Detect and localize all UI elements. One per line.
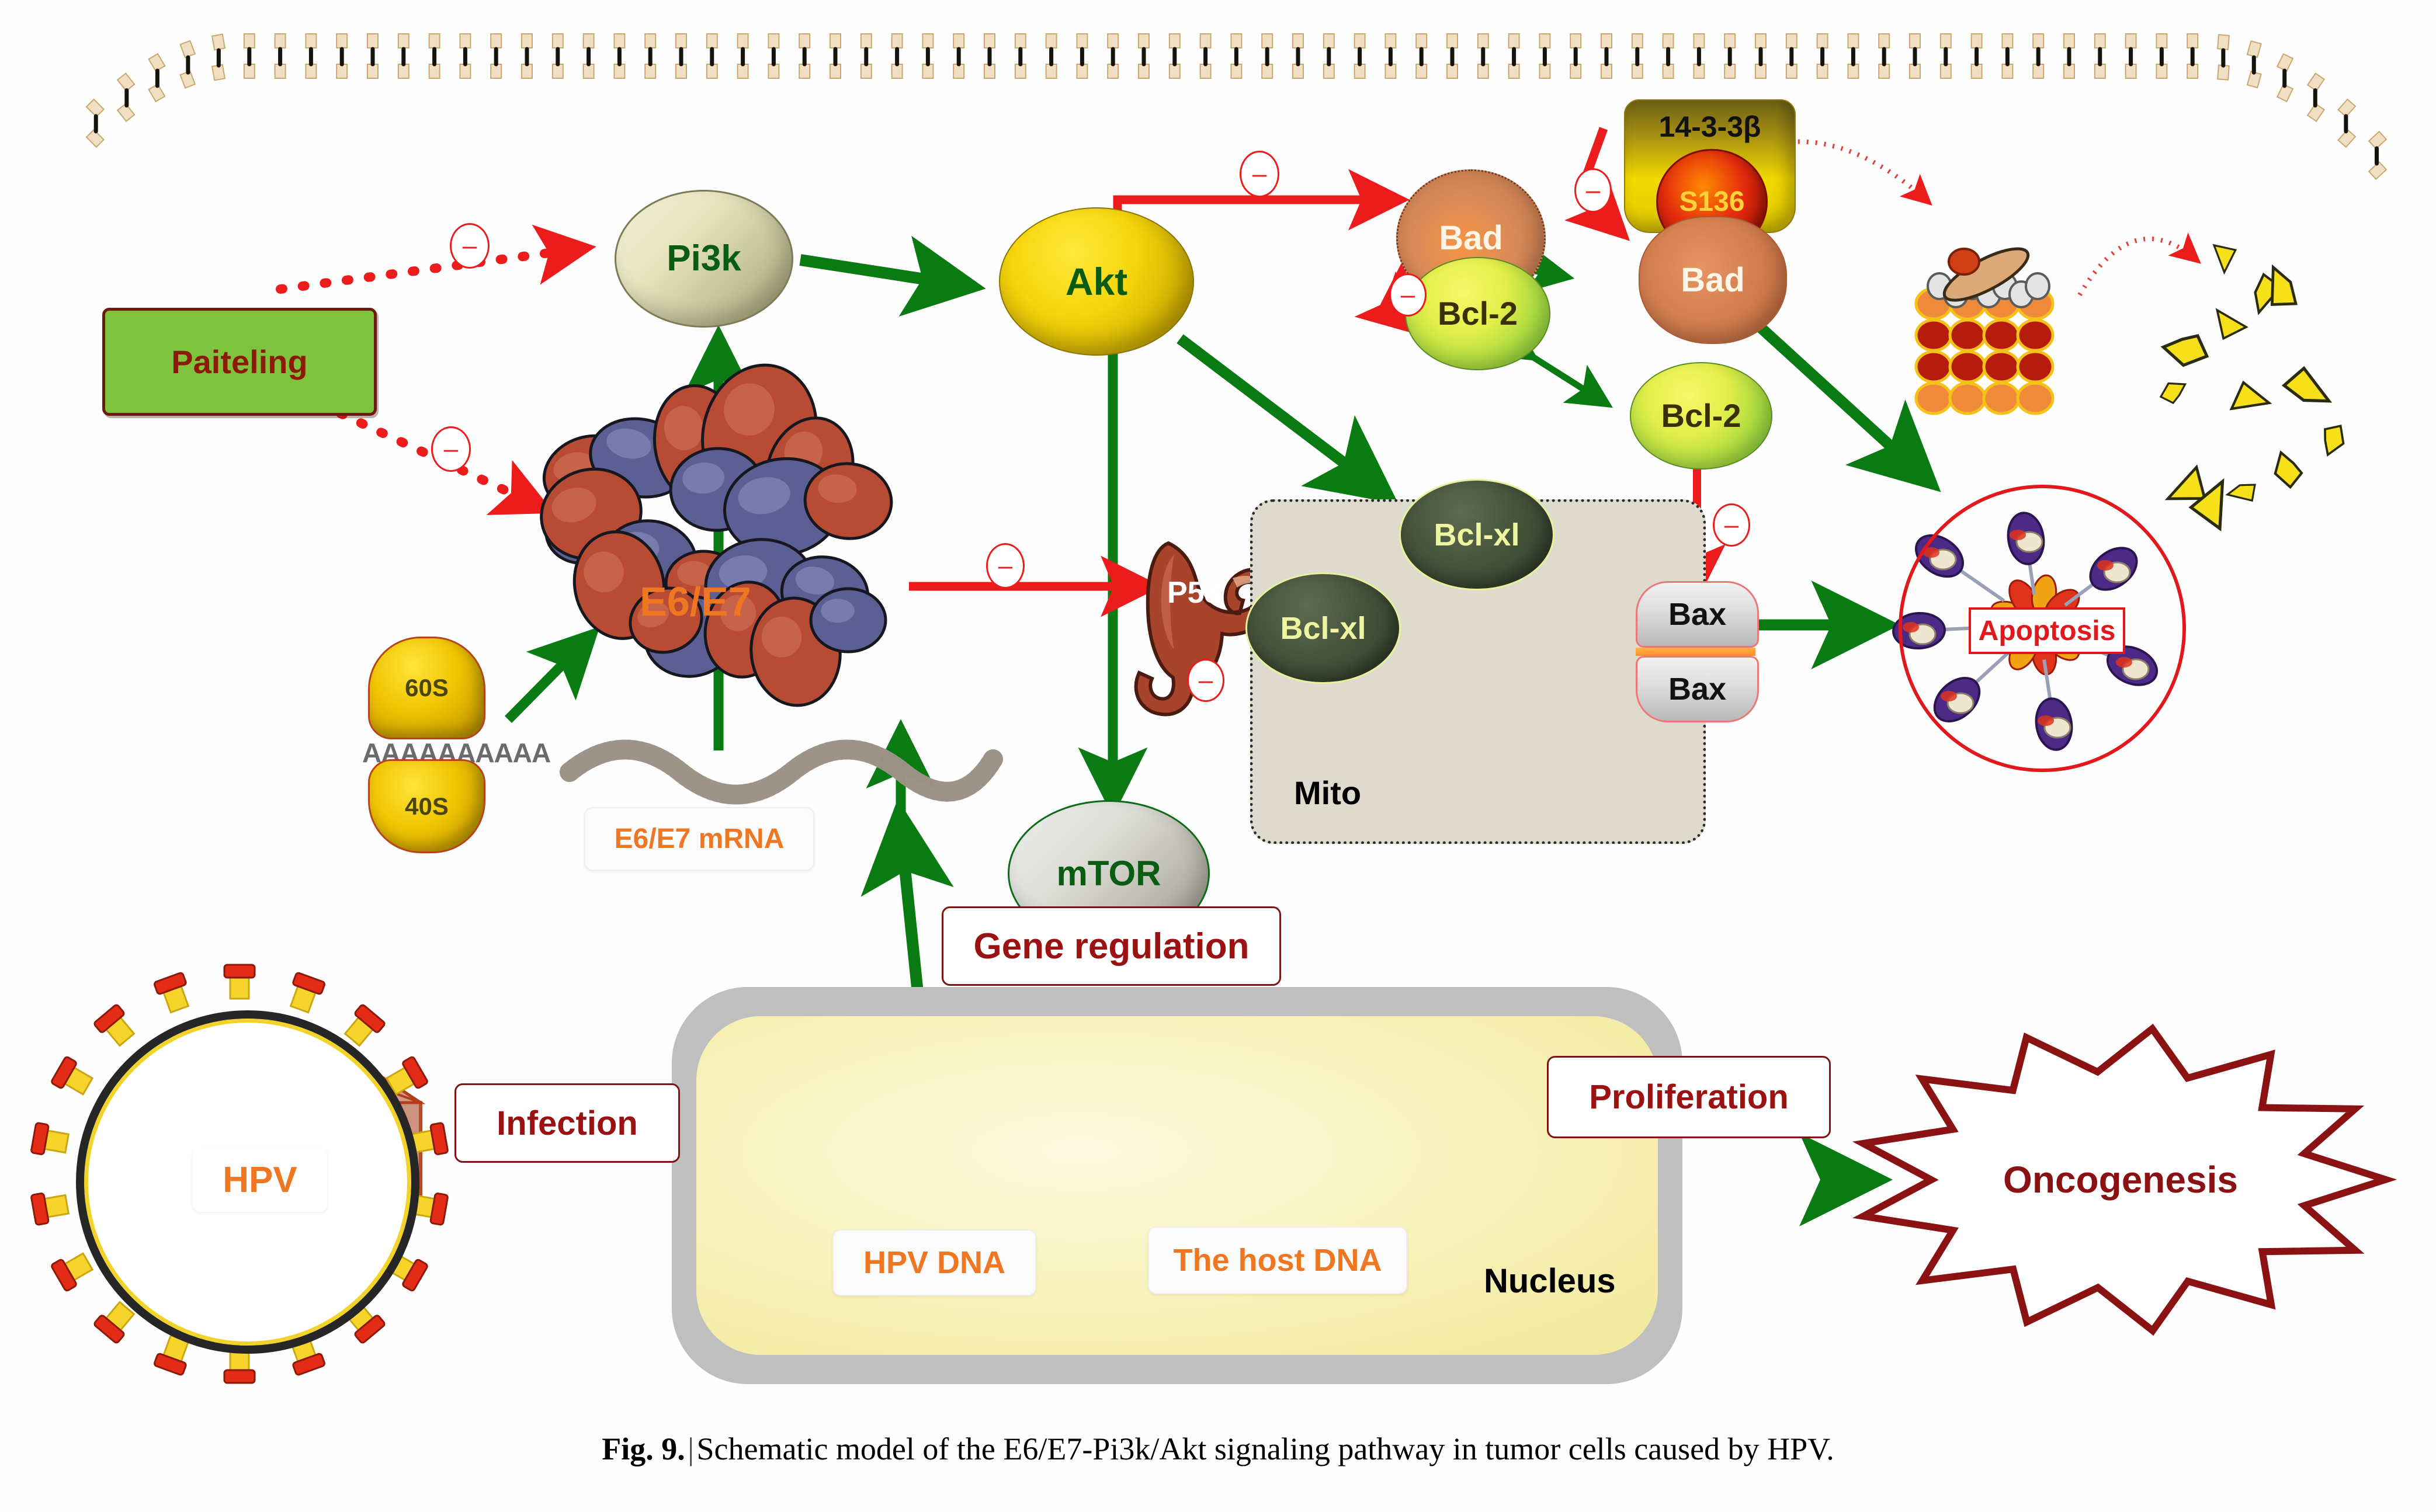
node-bcl2-upper[interactable]: Bcl-2 — [1405, 257, 1550, 370]
paiteling-drug-box[interactable]: Paiteling — [102, 308, 377, 416]
host-dna-label: The host DNA — [1148, 1226, 1407, 1294]
bax-dimer[interactable]: Bax Bax — [1636, 581, 1759, 722]
arrow-paiteling-inhibits-pi3k — [280, 248, 584, 289]
plasma-membrane — [86, 34, 2386, 179]
e6e7-mrna-strand — [570, 750, 993, 795]
caption-text: Schematic model of the E6/E7-Pi3k/Akt si… — [697, 1431, 1834, 1466]
node-bcl2-lower[interactable]: Bcl-2 — [1630, 362, 1772, 470]
caspase-proteasome-complex — [1916, 239, 2053, 413]
nucleoplasm — [696, 1016, 1658, 1355]
p53-label: P53 — [1167, 575, 1222, 610]
minus-sign-paiteling-pi3k: – — [450, 223, 490, 269]
minus-sign-bad-bcl2: – — [1389, 273, 1427, 317]
minus-sign-akt-bad: – — [1240, 151, 1279, 197]
e6e7-mrna-label: E6/E7 mRNA — [584, 807, 814, 871]
apoptosis-label: Apoptosis — [1969, 607, 2125, 654]
caption-separator: | — [688, 1431, 694, 1466]
node-pi3k[interactable]: Pi3k — [615, 190, 793, 328]
figure-number: Fig. 9. — [602, 1431, 685, 1466]
figure-caption: Fig. 9. | Schematic model of the E6/E7-P… — [0, 1431, 2436, 1467]
proliferation-label: Proliferation — [1547, 1056, 1831, 1138]
e6e7-cluster-label: E6/E7 — [640, 578, 751, 625]
arrow-akt-activates-bclxl — [1180, 339, 1384, 493]
arrow-bcl2-binds-bcl2 — [1532, 356, 1605, 403]
oncogenesis-label: Oncogenesis — [1969, 1153, 2272, 1206]
infection-label: Infection — [454, 1083, 680, 1163]
mito-label: Mito — [1294, 774, 1361, 812]
ribosome-40s-subunit[interactable]: 40S — [368, 759, 485, 853]
minus-sign-1433b-bad: – — [1574, 168, 1612, 213]
arrow-bad-to-apoptosis — [1740, 308, 1928, 480]
hpv-dna-label: HPV DNA — [832, 1229, 1036, 1296]
hpv-core-label: HPV — [193, 1148, 327, 1212]
figure-canvas: Mito Nucleus HPV Apoptosis Oncogenesis P… — [0, 0, 2436, 1512]
node-bax-bottom[interactable]: Bax — [1636, 656, 1759, 722]
node-bax-top[interactable]: Bax — [1636, 581, 1759, 648]
bax-pore — [1636, 648, 1755, 656]
minus-sign-paiteling-e6e7: – — [431, 426, 471, 472]
arrow-caspase-to-fragments — [2080, 239, 2196, 295]
arrow-ribosome-to-e6e7 — [508, 637, 590, 719]
node-bad-bound[interactable]: Bad — [1639, 216, 1787, 344]
minus-sign-e6e7-p53: – — [986, 543, 1025, 589]
e6e7-protein-cluster — [530, 353, 895, 710]
minus-sign-p53-bclxl: – — [1187, 659, 1224, 702]
gene-regulation-label: Gene regulation — [942, 906, 1281, 986]
arrow-pi3k-activates-akt — [800, 260, 970, 286]
node-akt[interactable]: Akt — [999, 207, 1194, 356]
cytochrome-fragments — [2157, 245, 2348, 529]
node-bclxl-mito[interactable]: Bcl-xl — [1245, 572, 1401, 684]
ribosome-60s-subunit[interactable]: 60S — [368, 637, 485, 739]
minus-sign-bcl2-bax: – — [1713, 503, 1750, 547]
nucleus-label: Nucleus — [1484, 1261, 1616, 1301]
node-bclxl-outer[interactable]: Bcl-xl — [1399, 479, 1554, 590]
